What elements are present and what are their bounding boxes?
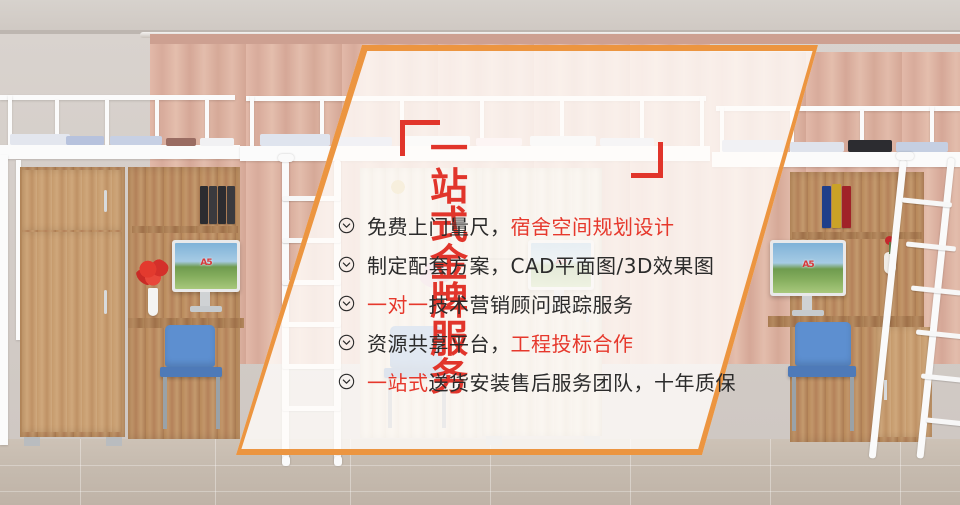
- list-item-label: 免费上门量尺，宿舍空间规划设计: [367, 211, 675, 240]
- bracket-bottom-right: [649, 142, 663, 178]
- chevron-down-circle-icon: [338, 334, 355, 351]
- list-item[interactable]: 一对一技术营销顾问跟踪服务: [338, 284, 736, 323]
- chevron-down-circle-icon: [338, 217, 355, 234]
- promo-banner: A5: [0, 0, 960, 505]
- list-item[interactable]: 制定配套方案，CAD平面图/3D效果图: [338, 245, 736, 284]
- list-item-label: 资源共享平台，工程投标合作: [367, 328, 634, 357]
- chevron-down-circle-icon: [338, 256, 355, 273]
- list-item-label: 一站式送货安装售后服务团队，十年质保: [367, 367, 736, 396]
- list-item-label: 制定配套方案，CAD平面图/3D效果图: [367, 250, 714, 279]
- list-item-label: 一对一技术营销顾问跟踪服务: [367, 289, 634, 318]
- list-item[interactable]: 资源共享平台，工程投标合作: [338, 323, 736, 362]
- feature-list: 免费上门量尺，宿舍空间规划设计 制定配套方案，CAD平面图/3D效果图 一对一技…: [338, 206, 736, 401]
- list-item[interactable]: 免费上门量尺，宿舍空间规划设计: [338, 206, 736, 245]
- list-item[interactable]: 一站式送货安装售后服务团队，十年质保: [338, 362, 736, 401]
- chevron-down-circle-icon: [338, 373, 355, 390]
- chevron-down-circle-icon: [338, 295, 355, 312]
